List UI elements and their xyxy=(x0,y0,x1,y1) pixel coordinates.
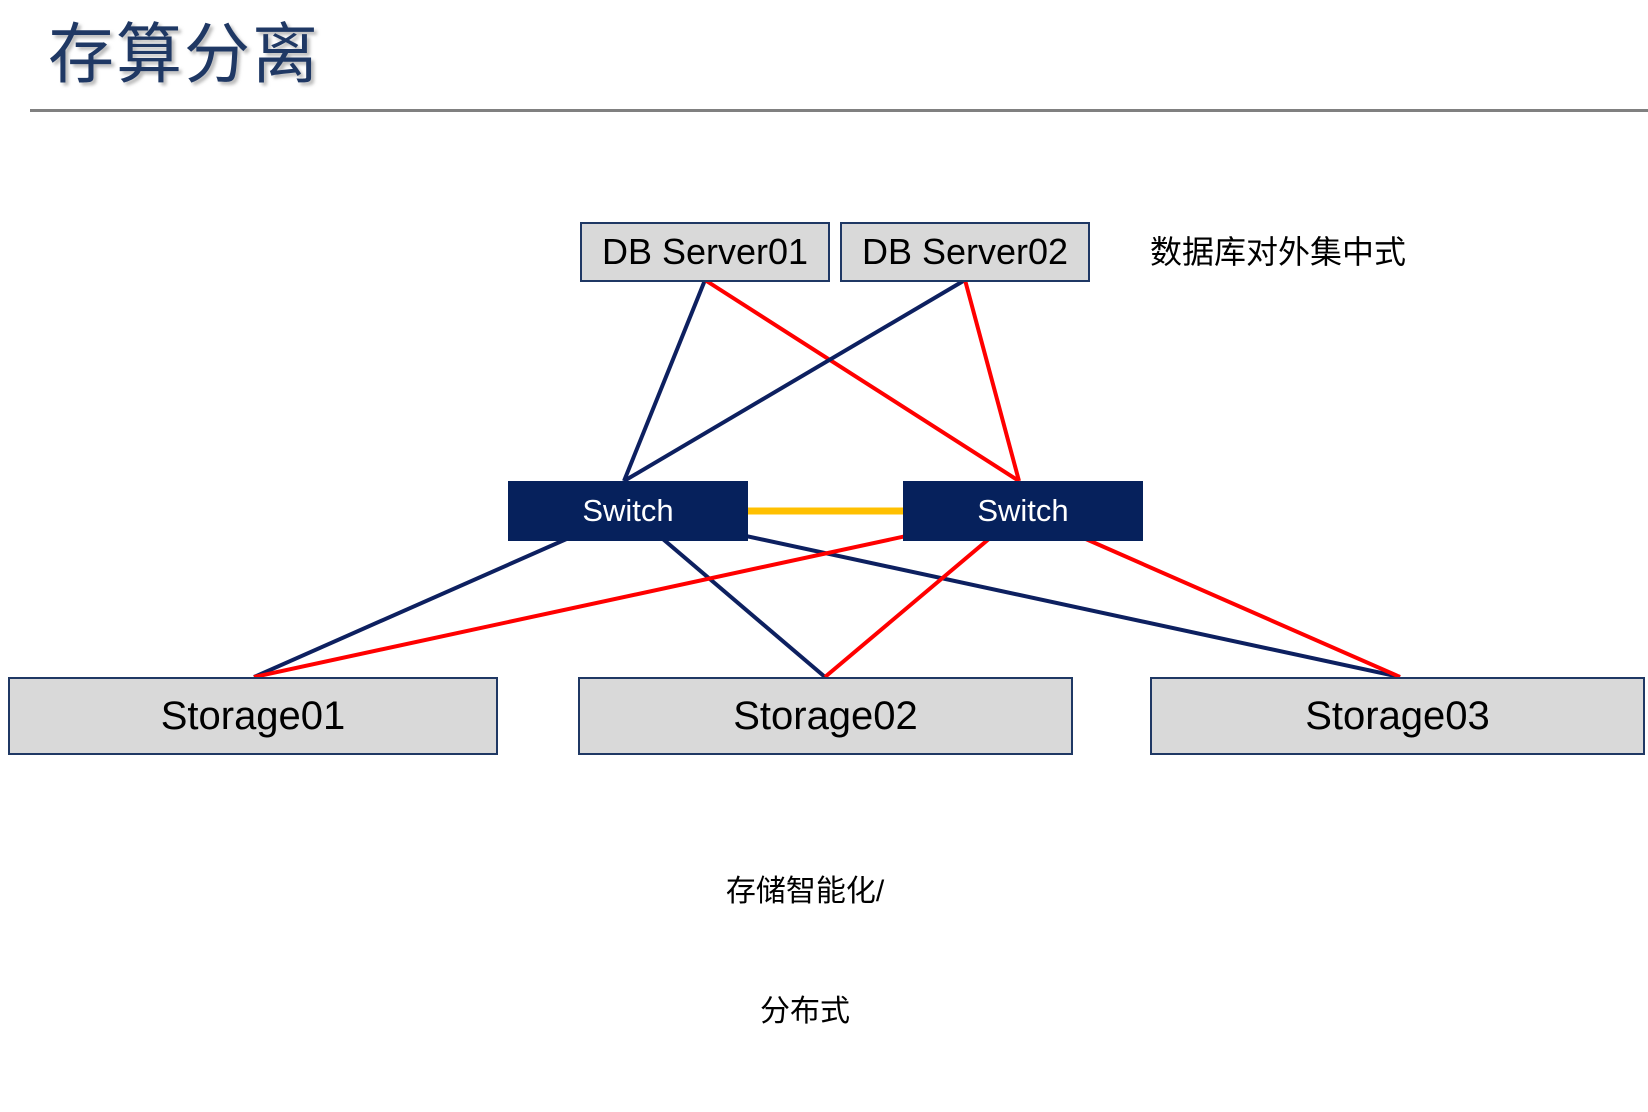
switch-label: Switch xyxy=(977,493,1068,529)
storage-03[interactable]: Storage03 xyxy=(1150,677,1645,755)
db-server-02[interactable]: DB Server02 xyxy=(840,222,1090,282)
storage-annotation-line-2: 分布式 xyxy=(645,992,965,1032)
storage-label: Storage02 xyxy=(733,694,918,739)
storage-01[interactable]: Storage01 xyxy=(8,677,498,755)
link-db-server-01-to-switch-01 xyxy=(624,280,705,481)
db-server-01[interactable]: DB Server01 xyxy=(580,222,830,282)
storage-annotation-line-1: 存储智能化/ xyxy=(645,872,965,912)
switch-label: Switch xyxy=(582,493,673,529)
db-annotation-label: 数据库对外集中式 xyxy=(1150,222,1406,282)
link-db-server-02-to-switch-01 xyxy=(624,280,965,481)
switch-02[interactable]: Switch xyxy=(903,481,1143,541)
db-server-label: DB Server02 xyxy=(862,231,1068,273)
link-db-server-02-to-switch-02 xyxy=(965,280,1019,481)
architecture-diagram: DB Server01DB Server02 SwitchSwitch Stor… xyxy=(0,0,1648,886)
db-server-label: DB Server01 xyxy=(602,231,808,273)
switch-01[interactable]: Switch xyxy=(508,481,748,541)
db-to-switch-links xyxy=(624,280,1019,481)
storage-label: Storage01 xyxy=(161,694,346,739)
storage-02[interactable]: Storage02 xyxy=(578,677,1073,755)
link-db-server-01-to-switch-02 xyxy=(705,280,1019,481)
storage-label: Storage03 xyxy=(1305,694,1490,739)
storage-annotation-label: 存储智能化/ 分布式 xyxy=(645,792,965,1112)
switch-to-storage-links xyxy=(254,511,1400,677)
